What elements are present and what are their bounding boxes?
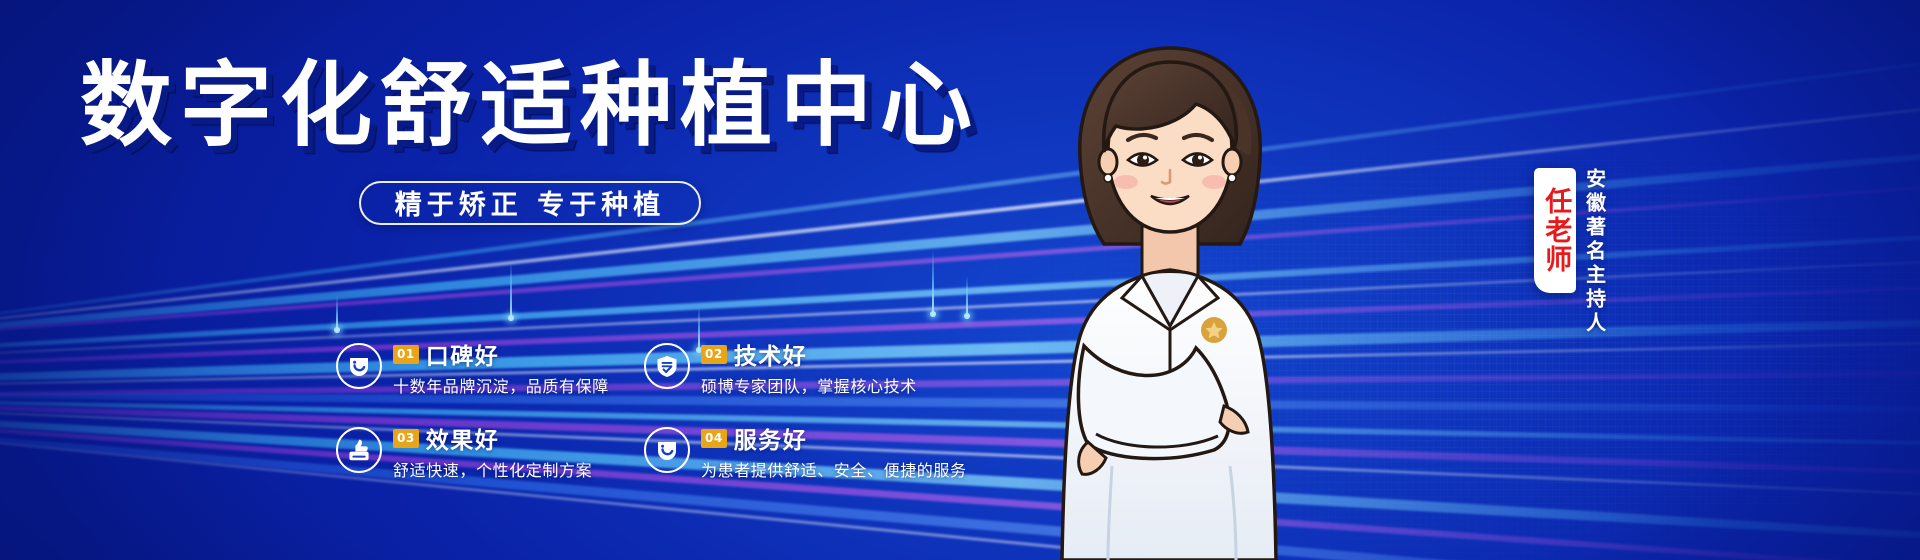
feature-description: 舒适快速，个性化定制方案 [393,457,592,481]
feature-number-badge: 04 [701,429,727,448]
feature-title: 服务好 [734,421,808,455]
feature-description: 十数年品牌沉淀，品质有保障 [393,373,609,397]
thumbs-up-icon [336,427,382,473]
tech-tick-marker [336,296,338,330]
tech-tick-marker [966,276,968,316]
feature-item-01: 01 口碑好 十数年品牌沉淀，品质有保障 [336,336,644,408]
features-grid: 01 口碑好 十数年品牌沉淀，品质有保障 02 技术好 [336,336,956,492]
smile-face-icon [336,343,382,389]
feature-title: 口碑好 [426,337,500,371]
feature-description: 硕博专家团队，掌握核心技术 [701,373,917,397]
spokesperson-portrait [1018,30,1318,560]
spokesperson-role: 安徽著名主持人 [1581,168,1607,408]
page-title: 数字化舒适种植中心 [0,58,1060,155]
feature-title: 效果好 [426,421,500,455]
feature-item-03: 03 效果好 舒适快速，个性化定制方案 [336,420,644,492]
promo-banner: 数字化舒适种植中心 精于矫正 专于种植 01 口碑好 十数年品牌沉淀，品质有保障 [0,0,1920,560]
tech-tick-marker [932,250,934,314]
smile-face-icon [644,427,690,473]
feature-item-02: 02 技术好 硕博专家团队，掌握核心技术 [644,336,952,408]
headline-block: 数字化舒适种植中心 精于矫正 专于种植 [0,0,1060,225]
shield-check-icon [644,343,690,389]
spokesperson-name: 任老师 [1541,187,1570,274]
feature-description: 为患者提供舒适、安全、便捷的服务 [701,457,967,481]
tech-tick-marker [510,262,512,318]
feature-title: 技术好 [734,337,808,371]
feature-number-badge: 03 [393,429,419,448]
feature-item-04: 04 服务好 为患者提供舒适、安全、便捷的服务 [644,420,952,492]
feature-number-badge: 01 [393,345,419,364]
subtitle-pill: 精于矫正 专于种植 [359,181,701,225]
spokesperson-name-tag: 任老师 [1534,168,1576,293]
feature-number-badge: 02 [701,345,727,364]
